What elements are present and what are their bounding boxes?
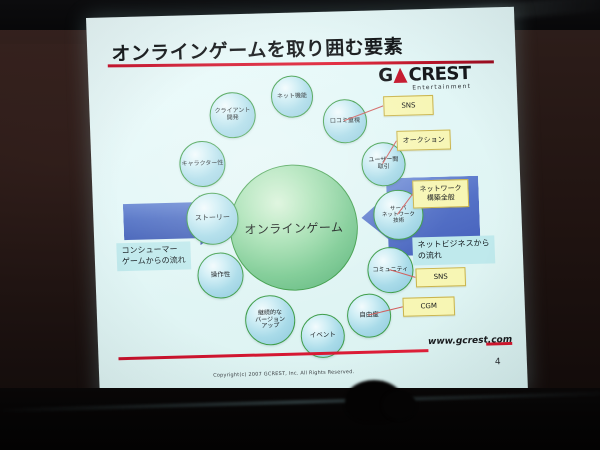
callout-sns-top: SNS	[383, 95, 434, 116]
bubble-label: サーバネットワーク技術	[382, 205, 416, 224]
projection-screen: オンラインゲームを取り囲む要素 G CREST Entertainment オン…	[86, 7, 528, 410]
bubble-version-up: 継続的なバージョンアップ	[244, 295, 296, 346]
callout-label: SNS	[434, 273, 448, 282]
flow-label-netbiz-flow: ネットビジネスからの流れ	[412, 235, 495, 265]
callout-label: SNS	[401, 101, 415, 110]
callout-label: オークション	[403, 135, 445, 145]
callout-label: CGM	[420, 302, 437, 311]
logo-left-text: G	[378, 65, 393, 86]
bubble-label: キャラクター性	[181, 160, 223, 168]
bubble-client-dev: クライアント開発	[209, 92, 257, 139]
callout-label: ネットワーク構築全般	[419, 184, 462, 203]
bubble-label: 継続的なバージョンアップ	[255, 310, 286, 331]
bubble-label: クライアント開発	[215, 108, 251, 122]
brand-logo: G CREST Entertainment	[378, 63, 471, 92]
callout-cgm: CGM	[402, 296, 455, 316]
footer-copyright: Copyright(c) 2007 GCREST, Inc. All Right…	[213, 369, 354, 379]
triangle-icon	[393, 68, 408, 83]
bubble-usability: 操作性	[197, 252, 245, 299]
callout-auction: オークション	[396, 129, 451, 150]
bubble-freedom: 自由度	[346, 293, 392, 338]
bubble-label: ネット機能	[277, 93, 307, 101]
bubble-label: イベント	[310, 332, 336, 340]
bubble-character: キャラクター性	[179, 140, 227, 187]
bubble-label: 操作性	[211, 272, 231, 280]
page-number: 4	[495, 357, 501, 367]
audience-head-silhouette-2	[382, 390, 416, 420]
core-node: オンラインゲーム	[228, 163, 361, 292]
core-label: オンラインゲーム	[244, 218, 343, 238]
slide: オンラインゲームを取り囲む要素 G CREST Entertainment オン…	[86, 7, 528, 404]
footer-url: www.gcrest.com	[428, 335, 512, 347]
footer-rule	[118, 349, 428, 360]
bubble-label: ストーリー	[195, 214, 230, 223]
bubble-word-of-mouth: 口コミ重視	[322, 99, 368, 144]
flow-label-consumer-flow: コンシューマーゲームからの流れ	[116, 241, 191, 271]
callout-sns-bottom: SNS	[415, 267, 466, 287]
callout-network-all: ネットワーク構築全般	[412, 179, 469, 208]
photo-frame: オンラインゲームを取り囲む要素 G CREST Entertainment オン…	[0, 0, 600, 450]
bubble-net-function: ネット機能	[270, 75, 314, 118]
